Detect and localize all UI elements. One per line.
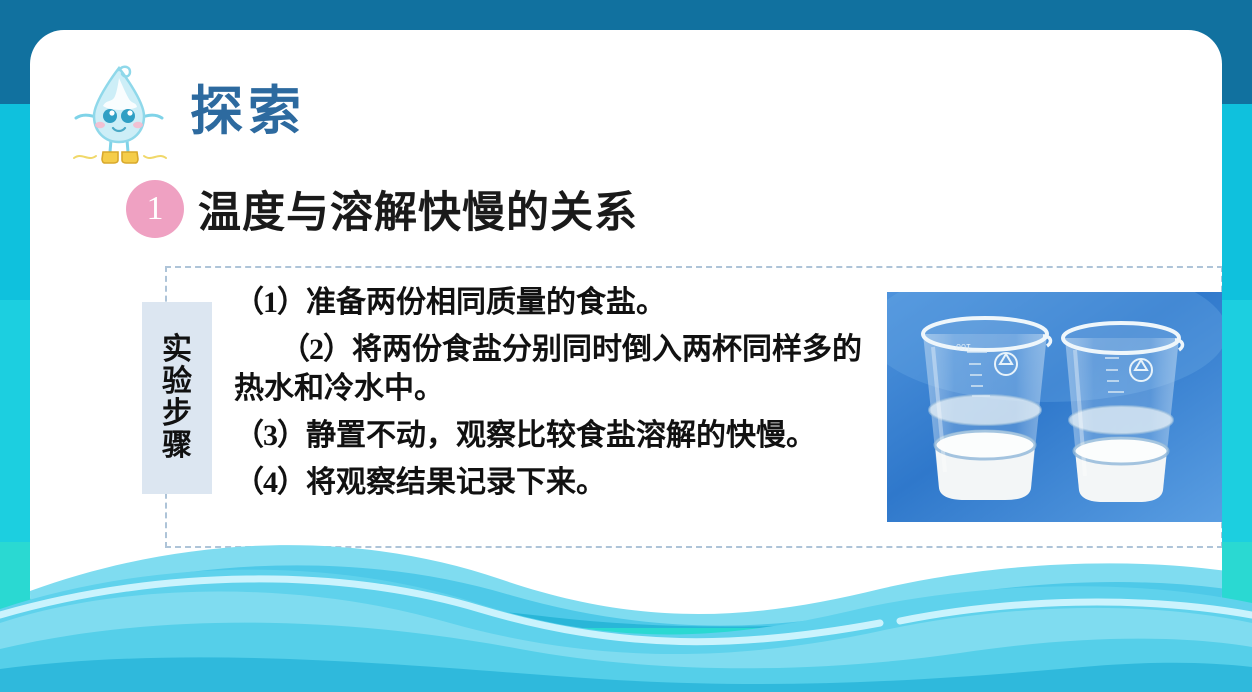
step-number-4: （4）	[234, 466, 306, 499]
content-card: 探索 1 温度与溶解快慢的关系 实 验 步 骤 （1）准备两份相同质量的食盐。 …	[30, 30, 1222, 628]
two-beakers-photo: 100	[887, 292, 1222, 522]
experiment-steps-list: （1）准备两份相同质量的食盐。 （2）将两份食盐分别同时倒入两杯同样多的热水和冷…	[234, 283, 884, 510]
experiment-step-4: （4）将观察结果记录下来。	[234, 463, 884, 502]
step-number-2: （2）	[234, 333, 352, 366]
experiment-step-3: （3）静置不动，观察比较食盐溶解的快慢。	[234, 416, 884, 455]
step-text-4: 将观察结果记录下来。	[306, 466, 606, 499]
steps-label-char-2: 步	[162, 398, 192, 430]
step-number-3: （3）	[234, 419, 306, 452]
step-number-1: （1）	[234, 286, 306, 319]
section-number-badge: 1	[126, 180, 184, 238]
experiment-step-1: （1）准备两份相同质量的食盐。	[234, 283, 884, 322]
experiment-step-2: （2）将两份食盐分别同时倒入两杯同样多的热水和冷水中。	[234, 330, 884, 408]
section-title: 温度与溶解快慢的关系	[198, 178, 638, 240]
section-heading: 1 温度与溶解快慢的关系	[126, 178, 638, 240]
slide-header: 探索	[70, 62, 306, 170]
step-text-1: 准备两份相同质量的食盐。	[306, 286, 666, 319]
steps-label-char-0: 实	[162, 334, 192, 366]
slide-root: 探索 1 温度与溶解快慢的关系 实 验 步 骤 （1）准备两份相同质量的食盐。 …	[0, 0, 1252, 692]
svg-text:100: 100	[956, 342, 971, 352]
page-title: 探索	[190, 85, 306, 148]
step-text-3: 静置不动，观察比较食盐溶解的快慢。	[306, 419, 816, 452]
experiment-steps-label: 实 验 步 骤	[142, 302, 212, 494]
steps-label-char-3: 骤	[162, 430, 192, 462]
steps-label-char-1: 验	[162, 366, 192, 398]
water-droplet-mascot-icon	[70, 62, 168, 170]
